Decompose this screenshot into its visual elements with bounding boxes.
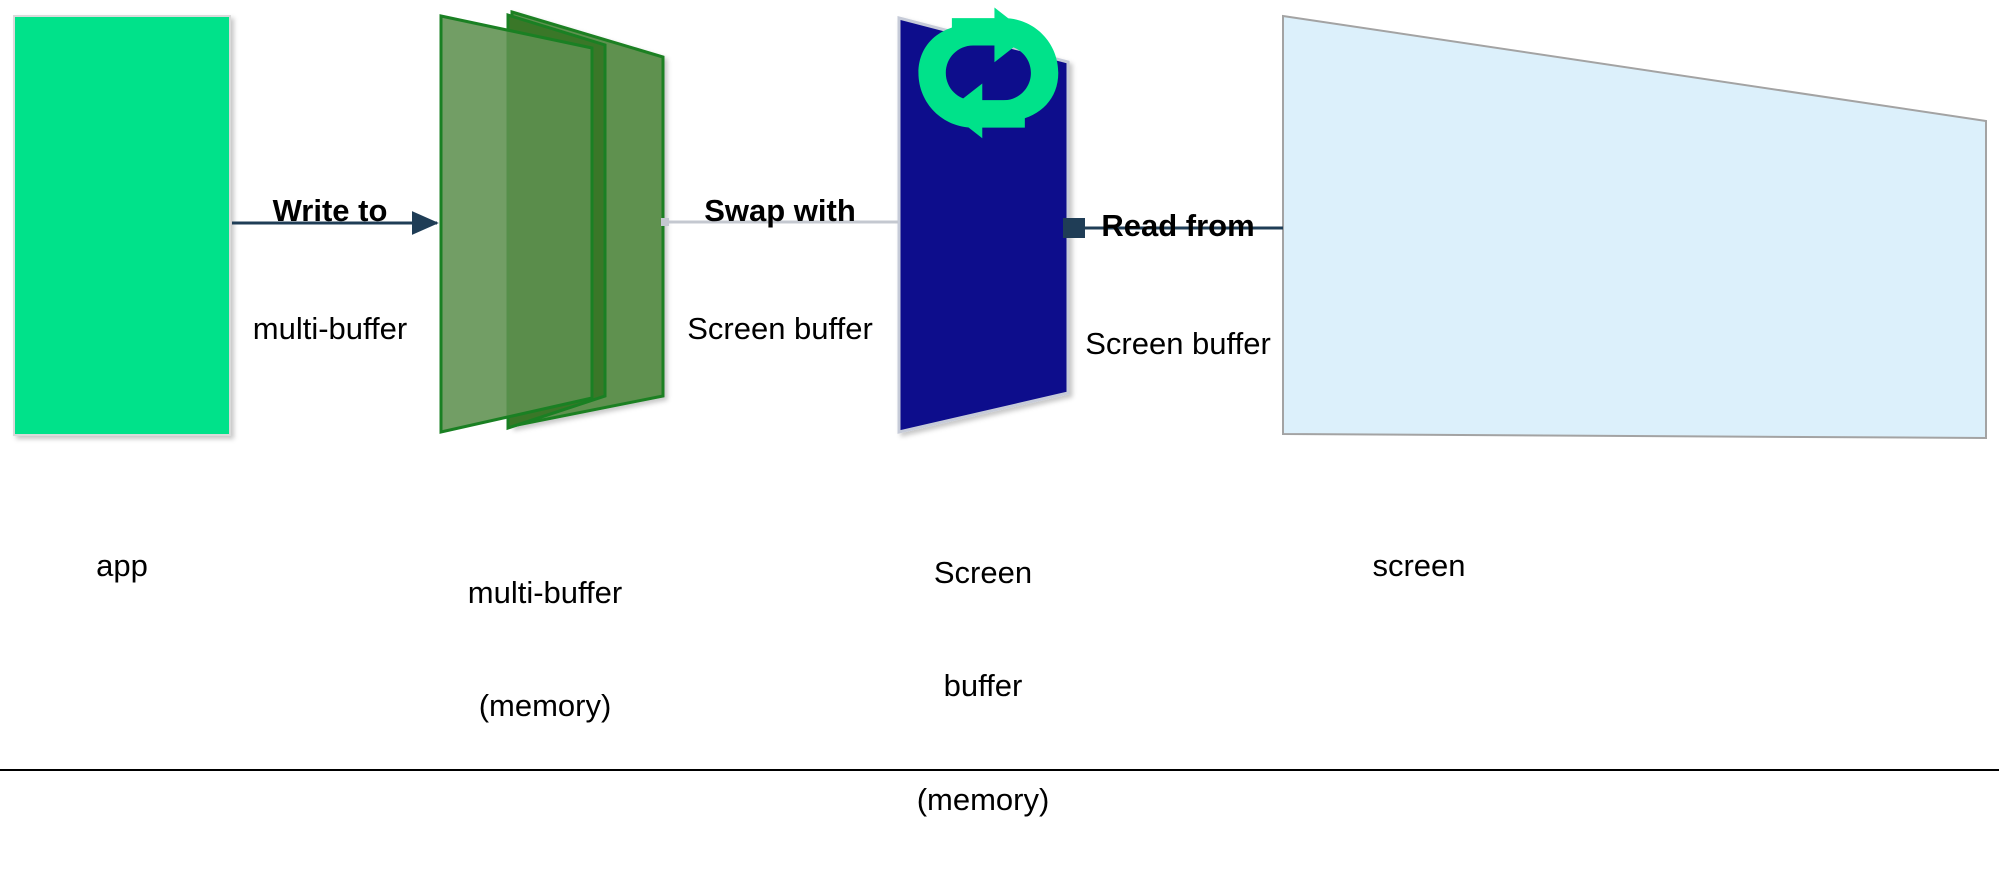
edge-label-swap-with: Swap with Screen buffer (655, 112, 905, 427)
edge-label-read-from-bold: Read from (1053, 206, 1303, 245)
edge-label-write-to-normal: multi-buffer (205, 309, 455, 348)
node-multi-buffer-shape[interactable] (441, 12, 663, 432)
node-label-multi-buffer-line1: multi-buffer (420, 574, 670, 612)
node-label-screen: screen (1283, 471, 1555, 660)
edge-label-write-to: Write to multi-buffer (205, 112, 455, 427)
edge-label-read-from-normal: Screen buffer (1053, 324, 1303, 363)
diagram-canvas: Write to multi-buffer Swap with Screen b… (0, 0, 1999, 771)
node-label-app-text: app (22, 547, 222, 585)
edge-label-write-to-bold: Write to (205, 191, 455, 230)
node-label-multi-buffer-line2: (memory) (420, 687, 670, 725)
node-app-shape[interactable] (14, 16, 230, 435)
node-label-screen-text: screen (1283, 547, 1555, 585)
node-label-screen-buffer-line3: (memory) (858, 781, 1108, 819)
node-label-multi-buffer: multi-buffer (memory) (420, 498, 670, 801)
edge-label-swap-with-normal: Screen buffer (655, 309, 905, 348)
node-screen-shape[interactable] (1283, 16, 1986, 438)
node-label-app: app (22, 471, 222, 660)
edge-label-read-from: Read from Screen buffer (1053, 127, 1303, 442)
node-label-screen-buffer-line1: Screen (858, 554, 1108, 592)
node-label-screen-buffer-line2: buffer (858, 667, 1108, 705)
node-label-screen-buffer: Screen buffer (memory) (858, 478, 1108, 894)
edge-label-swap-with-bold: Swap with (655, 191, 905, 230)
